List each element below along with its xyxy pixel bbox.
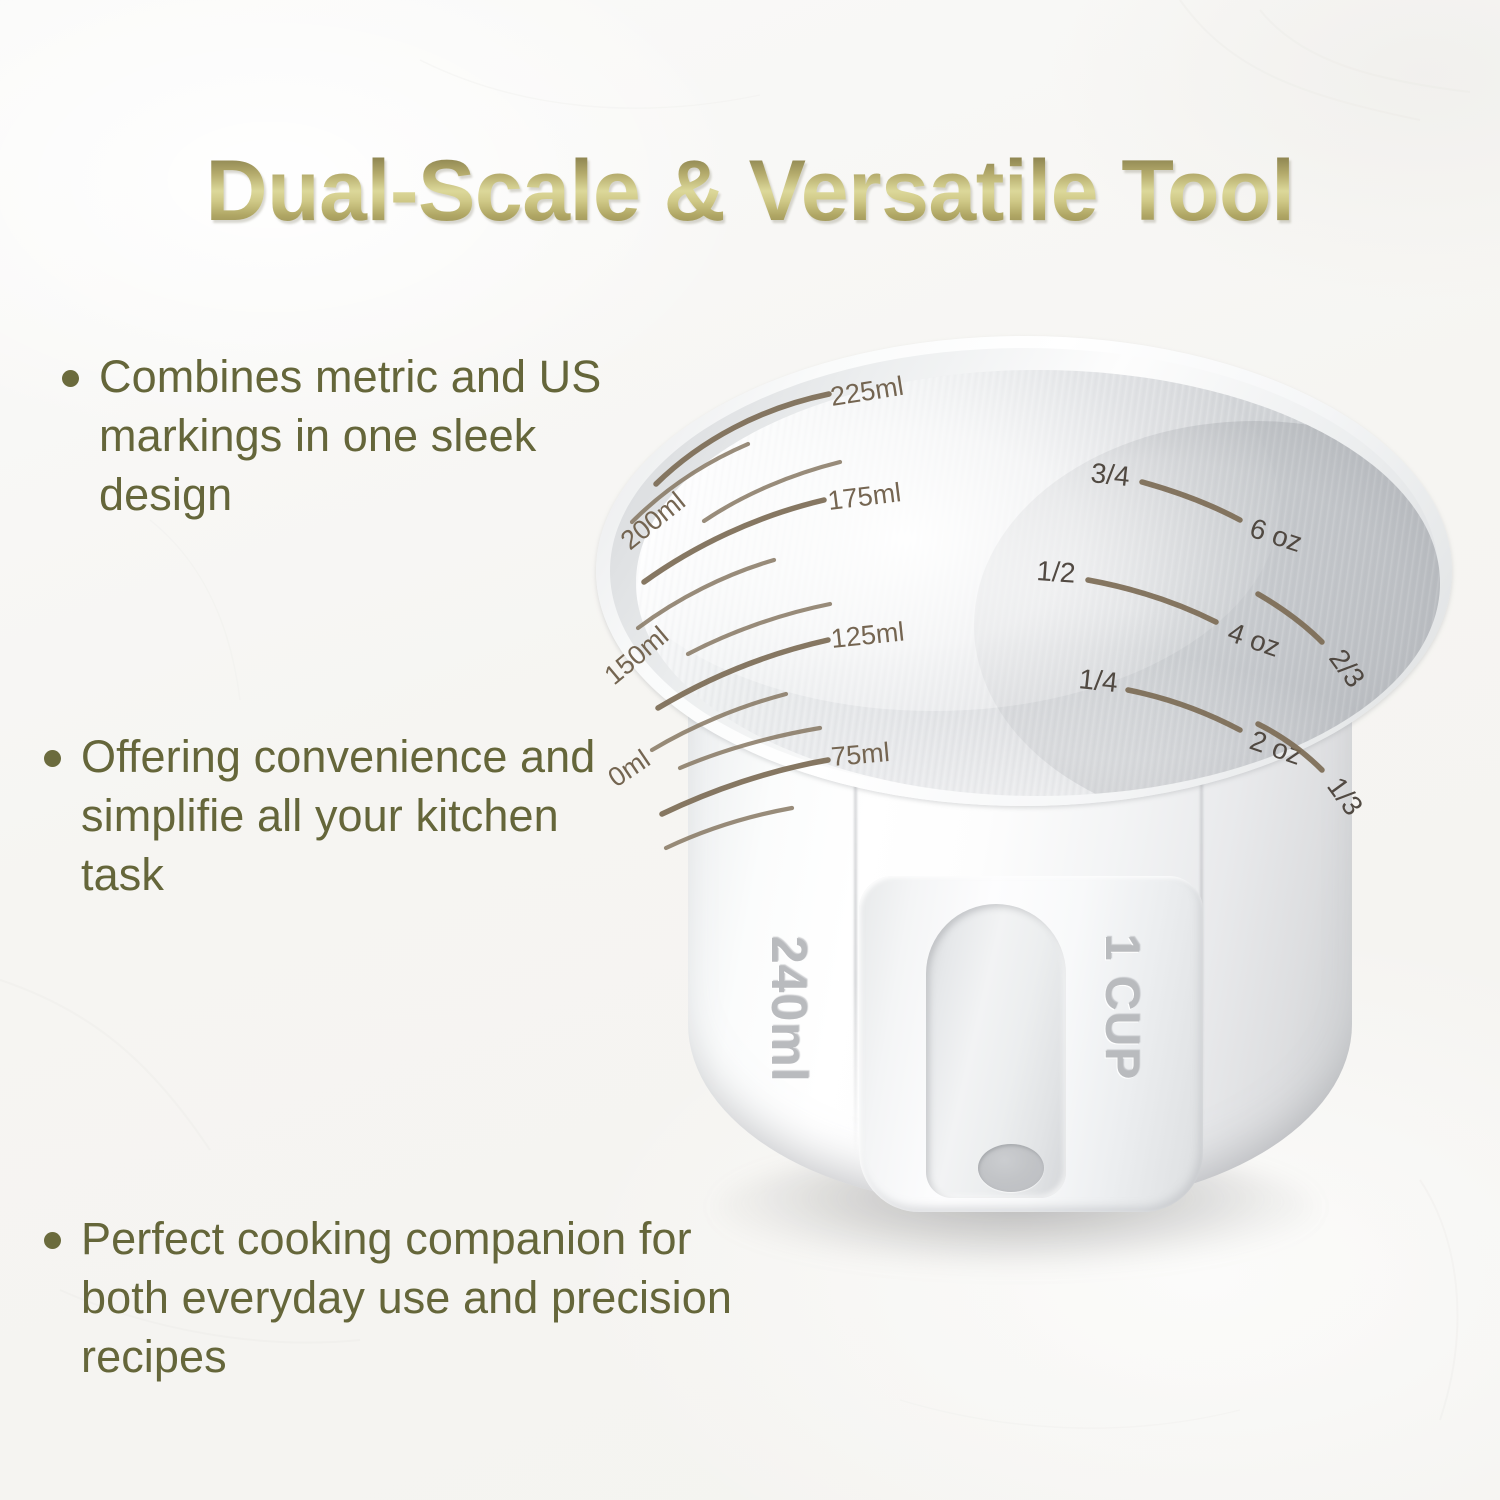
handle-us-emboss: 1 CUP: [1094, 934, 1149, 1080]
feature-text: Offering convenience and simplifie all y…: [81, 728, 654, 905]
bullet-dot-icon: [62, 370, 79, 387]
feature-text: Combines metric and US markings in one s…: [99, 348, 662, 525]
cup-rim-outer: [596, 336, 1452, 806]
infographic-page: Dual-Scale & Versatile Tool Combines met…: [0, 0, 1500, 1500]
bullet-dot-icon: [44, 1232, 61, 1249]
cup-rim-lip: [610, 348, 1438, 794]
page-title: Dual-Scale & Versatile Tool: [206, 148, 1295, 234]
cup-interior-bowl: [636, 370, 1440, 796]
bullet-dot-icon: [44, 750, 61, 767]
handle-metric-emboss: 240ml: [760, 936, 818, 1083]
thumb-dimple-icon: [978, 1144, 1044, 1192]
page-title-container: Dual-Scale & Versatile Tool: [0, 148, 1500, 234]
product-image-measuring-cup: 240ml 1 CUP 225ml 200ml: [596, 336, 1456, 1276]
list-item: Combines metric and US markings in one s…: [62, 348, 662, 525]
list-item: Offering convenience and simplifie all y…: [44, 728, 654, 905]
